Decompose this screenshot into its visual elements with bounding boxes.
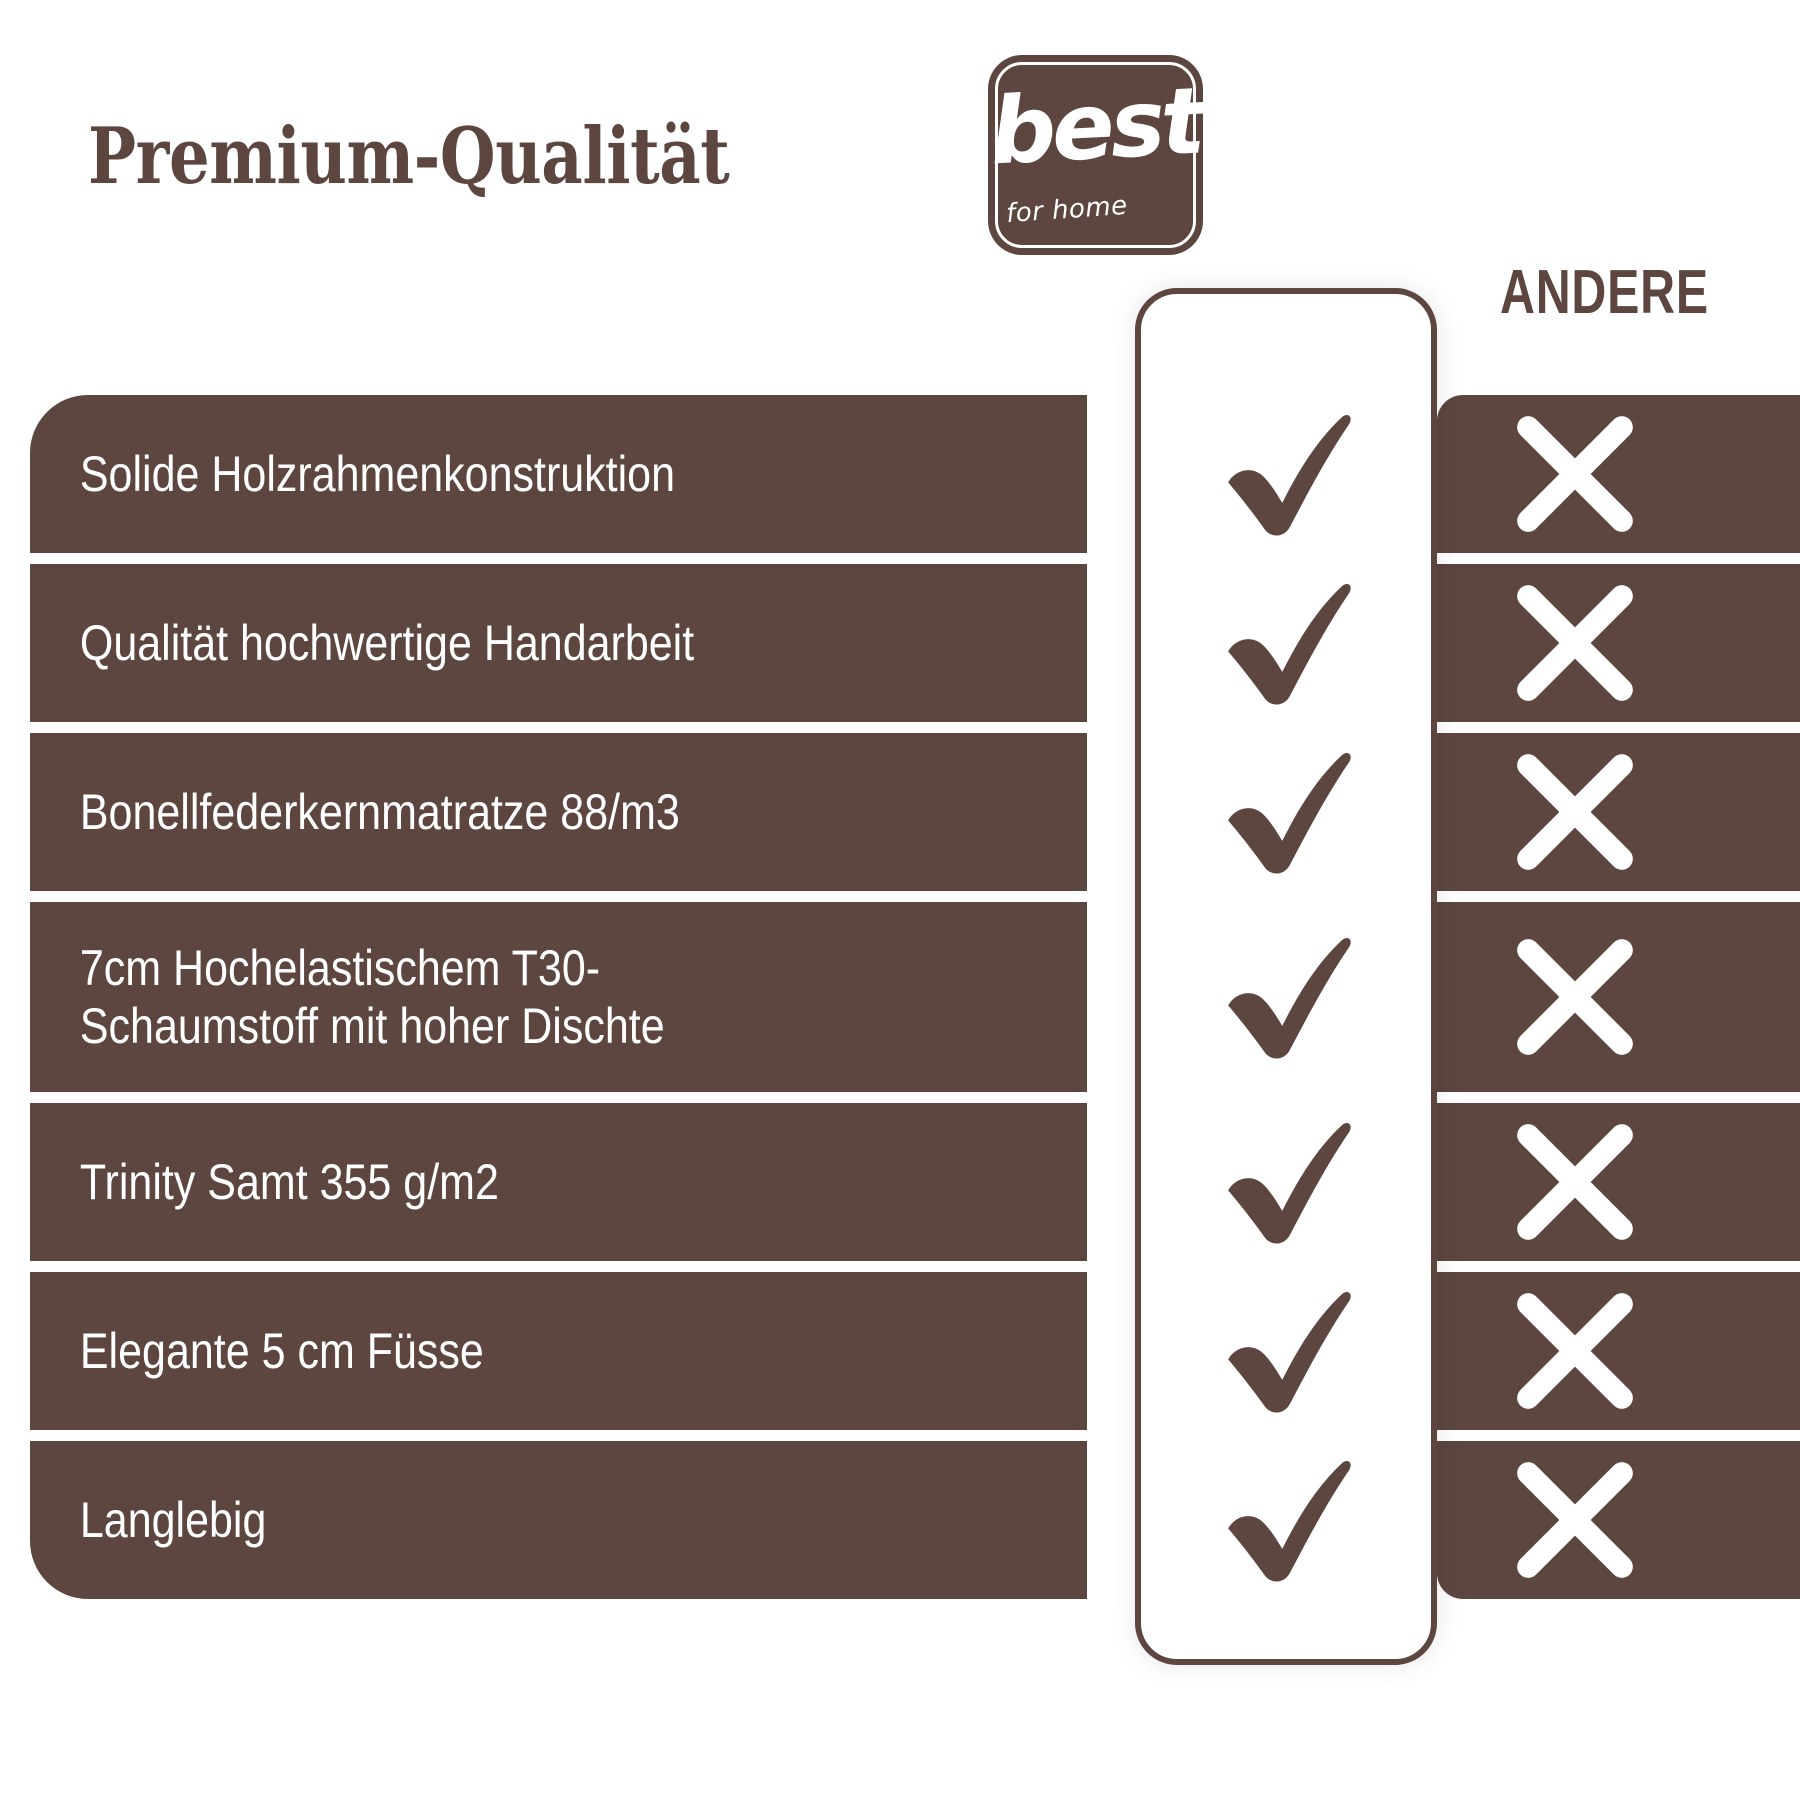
others-cell <box>1437 733 1800 891</box>
cross-icon <box>1510 409 1640 539</box>
others-cell <box>1437 1272 1800 1430</box>
others-cell <box>1437 1103 1800 1261</box>
best-cell <box>1141 902 1431 1092</box>
others-cell <box>1437 1441 1800 1599</box>
table-row: Bonellfederkernmatratze 88/m3 <box>30 733 1087 891</box>
cross-icon <box>1510 1286 1640 1416</box>
cross-icon <box>1510 1117 1640 1247</box>
cross-icon <box>1510 578 1640 708</box>
check-icon <box>1211 927 1361 1067</box>
best-cell <box>1141 564 1431 722</box>
best-cell <box>1141 1103 1431 1261</box>
others-cell <box>1437 564 1800 722</box>
best-cell <box>1141 1441 1431 1599</box>
feature-label: Langlebig <box>30 1491 292 1549</box>
table-row: Trinity Samt 355 g/m2 <box>30 1103 1087 1261</box>
table-row: 7cm Hochelastischem T30- Schaumstoff mit… <box>30 902 1087 1092</box>
feature-label: 7cm Hochelastischem T30- Schaumstoff mit… <box>30 939 690 1055</box>
others-cell <box>1437 902 1800 1092</box>
best-cell <box>1141 395 1431 553</box>
check-icon <box>1211 1281 1361 1421</box>
cross-icon <box>1510 747 1640 877</box>
feature-label: Trinity Samt 355 g/m2 <box>30 1153 525 1211</box>
best-cell <box>1141 733 1431 891</box>
comparison-table: Solide HolzrahmenkonstruktionQualität ho… <box>0 0 1800 1800</box>
feature-label: Bonellfederkernmatratze 88/m3 <box>30 783 706 841</box>
cross-icon <box>1510 1455 1640 1585</box>
feature-label: Qualität hochwertige Handarbeit <box>30 614 720 672</box>
cross-icon <box>1510 932 1640 1062</box>
check-icon <box>1211 1112 1361 1252</box>
others-cell <box>1437 395 1800 553</box>
check-icon <box>1211 742 1361 882</box>
table-row: Langlebig <box>30 1441 1087 1599</box>
feature-label: Elegante 5 cm Füsse <box>30 1322 510 1380</box>
table-row: Elegante 5 cm Füsse <box>30 1272 1087 1430</box>
best-cell <box>1141 1272 1431 1430</box>
check-icon <box>1211 1450 1361 1590</box>
check-icon <box>1211 404 1361 544</box>
table-row: Qualität hochwertige Handarbeit <box>30 564 1087 722</box>
check-icon <box>1211 573 1361 713</box>
feature-label: Solide Holzrahmenkonstruktion <box>30 445 701 503</box>
table-row: Solide Holzrahmenkonstruktion <box>30 395 1087 553</box>
